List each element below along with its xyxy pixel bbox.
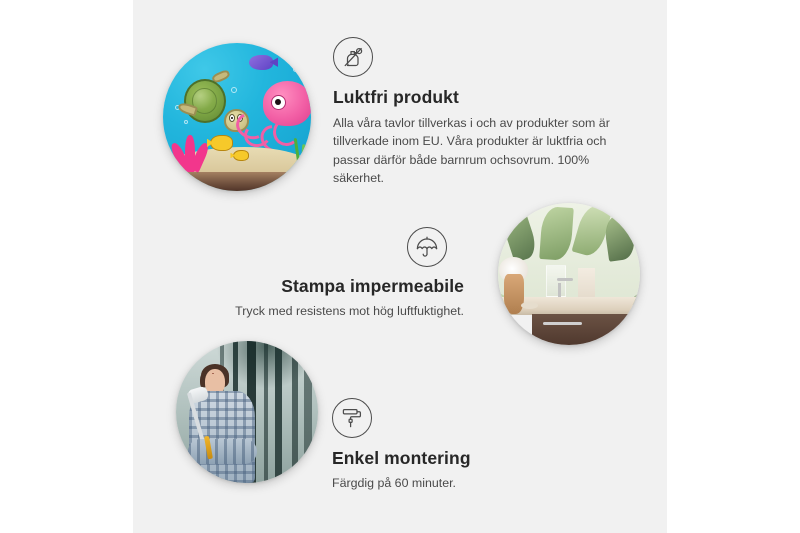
paint-roller-icon (332, 398, 372, 438)
tree (304, 341, 313, 483)
feature-title: Stampa impermeabile (190, 276, 464, 298)
feature-text: Tryck med resistens mot hög luftfuktighe… (190, 302, 464, 320)
crossed-arms (188, 439, 257, 465)
vase (504, 274, 524, 314)
cabinet-handle (627, 319, 630, 335)
feature-title: Enkel montering (332, 448, 632, 470)
sea-floor-strip (163, 172, 311, 191)
no-scent-perfume-bottle-icon (333, 37, 373, 77)
installer-forest-photo (176, 341, 318, 483)
turtle-eye (229, 114, 235, 122)
turtle-shell (184, 79, 226, 123)
yellow-fish (210, 135, 232, 151)
octopus (240, 81, 308, 152)
tree (264, 341, 268, 483)
smile (212, 373, 214, 374)
bathroom-mirror (546, 265, 566, 296)
feature-assembly: Enkel montering Färgdig på 60 minuter. (332, 398, 632, 492)
leaf (539, 206, 574, 261)
underwater-cartoon-photo (163, 43, 311, 191)
leaf (500, 210, 539, 263)
infographic-page: Luktfri produkt Alla våra tavlor tillver… (0, 0, 800, 533)
feature-text: Färgdig på 60 minuter. (332, 474, 632, 492)
umbrella-icon (407, 227, 447, 267)
tree (292, 341, 298, 483)
yellow-fish (233, 150, 249, 162)
cabinet-handle (543, 322, 582, 325)
woman-with-paint-roller (185, 367, 262, 483)
bubble-icon (293, 67, 298, 72)
feature-odourless: Luktfri produkt Alla våra tavlor tillver… (333, 37, 639, 187)
tree (275, 341, 282, 483)
bathroom-wallpaper-photo (498, 203, 640, 345)
feature-title: Luktfri produkt (333, 87, 639, 109)
leaf (603, 214, 637, 262)
blue-fish (249, 55, 273, 70)
octopus-head (263, 81, 311, 125)
coral (173, 133, 211, 171)
feature-text: Alla våra tavlor tillverkas i och av pro… (333, 114, 639, 187)
bathroom-cabinet (532, 314, 640, 345)
octopus-eye (271, 95, 286, 110)
feature-waterproof: Stampa impermeabile Tryck med resistens … (190, 227, 464, 320)
